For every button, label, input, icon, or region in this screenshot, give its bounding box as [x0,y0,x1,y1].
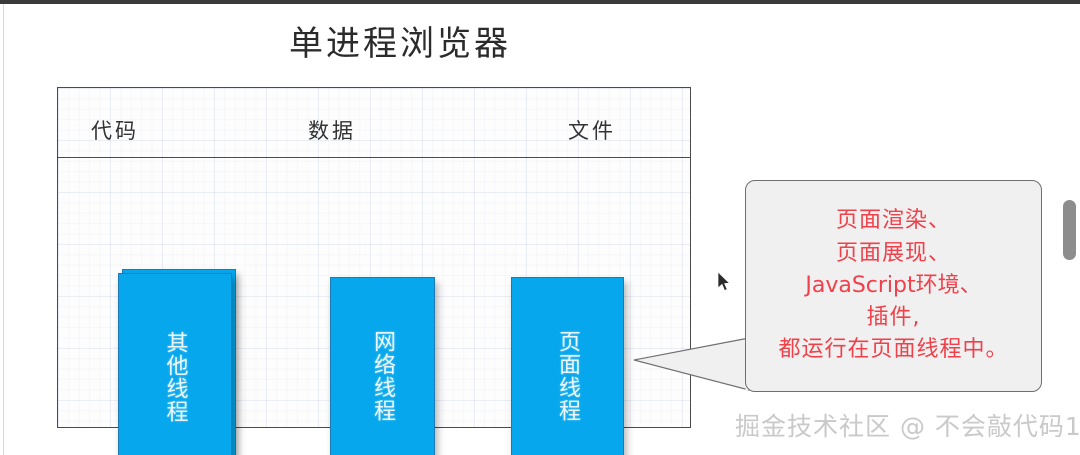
thread-box-other-label: 其他线程 [160,331,189,423]
header-cell-file: 文件 [568,115,616,145]
thread-box-network-label: 网络线程 [368,330,397,422]
single-process-browser-diagram: 代码 数据 文件 其他线程 网络线程 页面线程 [57,87,691,428]
left-edge-rule [3,4,4,455]
threads-area: 其他线程 网络线程 页面线程 [58,158,690,429]
callout-line-5: 都运行在页面线程中。 [778,334,1008,366]
callout-pointer-tail [634,338,749,390]
callout-line-2: 页面展现、 [836,238,951,270]
thread-box-page[interactable]: 页面线程 [511,277,624,455]
callout-bubble: 页面渲染、 页面展现、 JavaScript环境、 插件, 都运行在页面线程中。 [745,180,1042,392]
resource-header-row: 代码 数据 文件 [58,88,690,158]
thread-box-page-label: 页面线程 [553,330,582,422]
callout-line-1: 页面渲染、 [836,205,951,237]
header-cell-code: 代码 [91,115,139,145]
top-bar [0,0,1080,4]
vertical-scrollbar-thumb[interactable] [1063,200,1076,260]
watermark: 掘金技术社区 @ 不会敲代码1 [735,407,1080,443]
page-title: 单进程浏览器 [0,16,800,65]
screenshot-root: 单进程浏览器 代码 数据 文件 其他线程 网络线程 页面线程 页面渲染、 页面展… [0,0,1080,455]
header-cell-data: 数据 [308,115,356,145]
thread-box-other[interactable]: 其他线程 [118,273,232,455]
callout-line-4: 插件, [867,302,921,334]
mouse-cursor-icon [718,272,732,292]
callout-line-3: JavaScript环境、 [805,270,981,302]
thread-box-network[interactable]: 网络线程 [330,277,435,455]
